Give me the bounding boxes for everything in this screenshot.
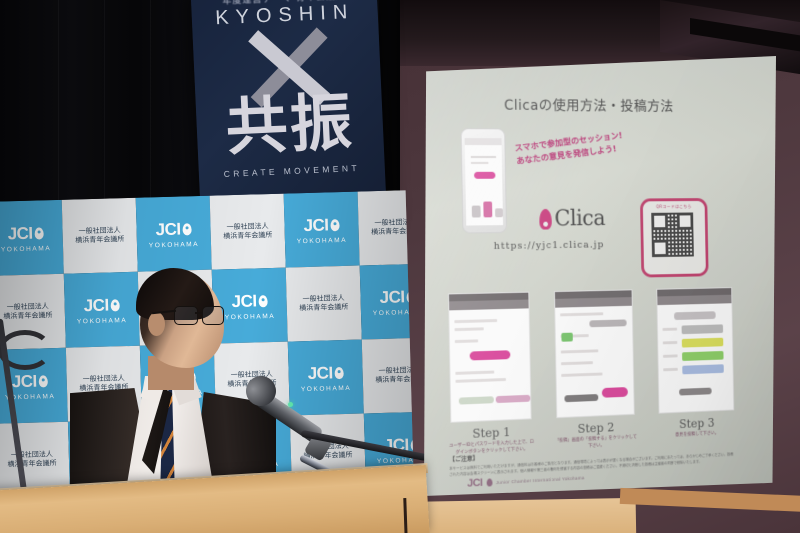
qr-caption: QRコードはこちら: [645, 204, 703, 210]
presentation-photo: 年度運営テーマ 青年会議所 KYOSHIN 共振 CREATE MOVEMENT…: [0, 0, 800, 533]
step-item: Step 1 ユーザーIDとパスワードを入力した上で、ログインボタンをクリックし…: [440, 291, 540, 457]
step-label: Step 1: [472, 425, 510, 441]
qr-code-frame: QRコードはこちら: [640, 198, 709, 278]
slide-title: Clicaの使用方法・投稿方法: [421, 94, 751, 116]
step-item: Step 2 「投稿」画面の「投稿する」をクリックして下さい。: [546, 289, 642, 452]
projection-screen: Clicaの使用方法・投稿方法 スマホで参加型のセッション! あなたの意見を発信…: [424, 56, 776, 496]
slide-catchphrase: スマホで参加型のセッション! あなたの意見を発信しよう!: [514, 126, 657, 169]
footer-pin-icon: [486, 478, 492, 486]
clica-url: https://yjc1.clica.jp: [494, 240, 605, 252]
clica-logo: Clica: [539, 207, 605, 232]
banner-kanji: 共振: [195, 90, 384, 160]
banner-tagline: CREATE MOVEMENT: [199, 162, 385, 180]
clica-wordmark: Clica: [554, 207, 605, 232]
phone-mockup-icon: [461, 128, 508, 233]
footer-jci-logo: JCI: [467, 477, 482, 490]
step-item: Step 3 意見を投稿して下さい。: [649, 287, 742, 447]
step-label: Step 3: [679, 416, 715, 431]
glasses-icon: [174, 306, 226, 324]
step-screenshot: [554, 289, 635, 418]
step-label: Step 2: [578, 421, 615, 436]
steps-row: Step 1 ユーザーIDとパスワードを入力した上で、ログインボタンをクリックし…: [440, 287, 742, 457]
podium-secondary: [396, 498, 637, 533]
step-screenshot: [656, 287, 734, 414]
footer-text: Junior Chamber International Yokohama: [496, 475, 585, 485]
qr-code-icon: [651, 212, 694, 257]
step-caption: 意見を投稿して下さい。: [657, 430, 736, 440]
microphone-led-indicator: [288, 402, 293, 407]
step-screenshot: [448, 292, 532, 423]
projected-slide: Clicaの使用方法・投稿方法 スマホで参加型のセッション! あなたの意見を発信…: [420, 56, 757, 496]
ear: [148, 312, 165, 336]
clica-mark-icon: [539, 209, 552, 230]
